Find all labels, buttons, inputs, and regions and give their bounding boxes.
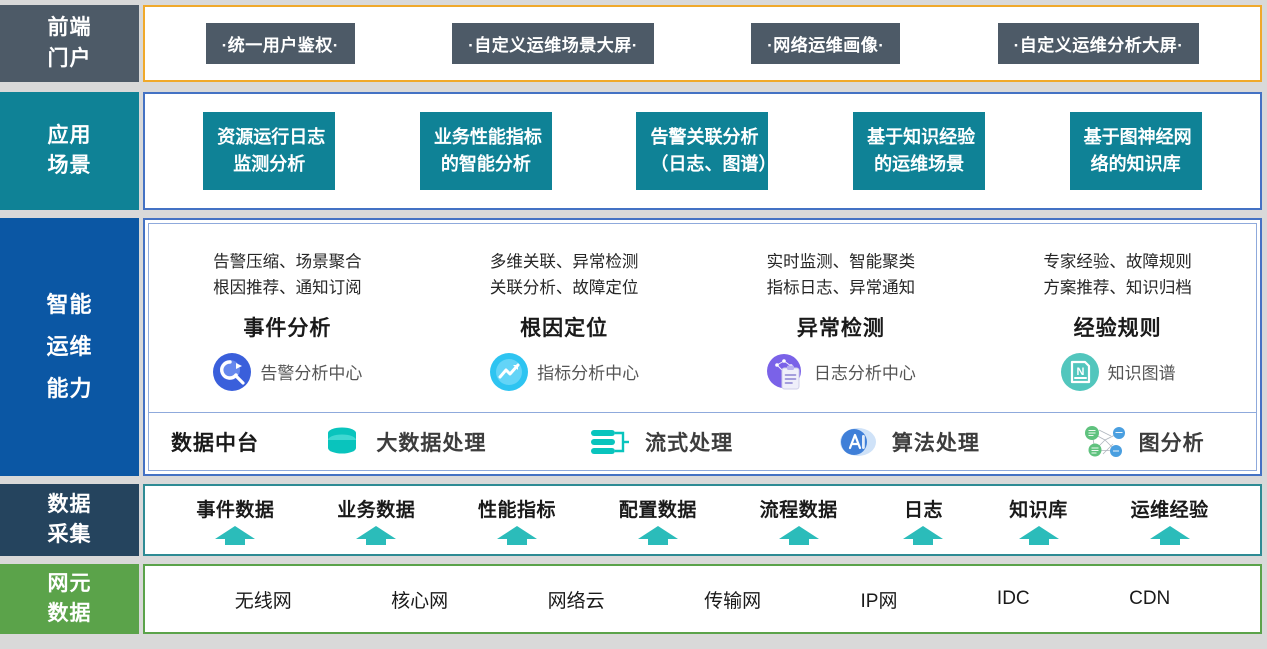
capability-desc-line: 根因推荐、通知订阅 <box>213 276 362 302</box>
up-arrow-icon <box>353 524 399 546</box>
data-collection-label: 配置数据 <box>619 495 697 522</box>
capability-desc-line: 关联分析、故障定位 <box>490 276 639 302</box>
capability-product[interactable]: 指标分析中心 <box>489 352 639 392</box>
capability-title: 根因定位 <box>520 312 608 342</box>
capability-column-root-cause[interactable]: 多维关联、异常检测 关联分析、故障定位 根因定位 指标分析中心 <box>426 224 703 412</box>
up-arrow-icon <box>1016 524 1062 546</box>
platform-item-graph[interactable]: 图分析 <box>1083 424 1205 460</box>
capability-column-anomaly-detection[interactable]: 实时监测、智能聚类 指标日志、异常通知 异常检测 <box>703 224 980 412</box>
capability-product-label: 告警分析中心 <box>260 359 362 384</box>
capability-panel: 告警压缩、场景聚合 根因推荐、通知订阅 事件分析 告警分析中心 <box>148 223 1257 413</box>
aiops-outer-panel: 告警压缩、场景聚合 根因推荐、通知订阅 事件分析 告警分析中心 <box>143 218 1262 476</box>
data-platform-items: 大数据处理 流式处理 <box>269 424 1256 460</box>
row-label-line: 门户 <box>48 44 92 74</box>
data-collection-item[interactable]: 性能指标 <box>478 495 556 546</box>
data-collection-item[interactable]: 运维经验 <box>1131 495 1209 546</box>
data-collection-item[interactable]: 配置数据 <box>619 495 697 546</box>
capability-title: 经验规则 <box>1074 312 1162 342</box>
application-scenario-chip[interactable]: 资源运行日志监测分析 <box>203 112 335 190</box>
data-collection-label: 性能指标 <box>478 495 556 522</box>
row-label-line: 能力 <box>46 368 92 410</box>
portal-chip[interactable]: ·自定义运维分析大屏· <box>998 23 1200 64</box>
application-scenario-chip[interactable]: 业务性能指标的智能分析 <box>420 112 552 190</box>
network-element-item[interactable]: CDN <box>1129 588 1170 610</box>
network-element-item[interactable]: IDC <box>997 588 1030 610</box>
capability-product[interactable]: 告警分析中心 <box>212 352 362 392</box>
data-collection-item[interactable]: 事件数据 <box>196 495 274 546</box>
up-arrow-icon <box>635 524 681 546</box>
row-aiops-capability: 智能 运维 能力 告警压缩、场景聚合 根因推荐、通知订阅 事件分析 <box>0 218 1262 476</box>
data-collection-item[interactable]: 知识库 <box>1009 495 1068 546</box>
stream-icon <box>589 424 633 460</box>
row-label-line: 前端 <box>48 13 92 43</box>
row-label-line: 数据 <box>48 490 92 520</box>
row-label-line: 网元 <box>48 569 92 599</box>
capability-desc-line: 实时监测、智能聚类 <box>767 250 916 276</box>
data-collection-item[interactable]: 业务数据 <box>337 495 415 546</box>
row-label-line: 采集 <box>48 520 92 550</box>
platform-item-bigdata[interactable]: 大数据处理 <box>320 424 486 460</box>
up-arrow-icon <box>494 524 540 546</box>
capability-column-event-analysis[interactable]: 告警压缩、场景聚合 根因推荐、通知订阅 事件分析 告警分析中心 <box>149 224 426 412</box>
row-front-portal: 前端 门户 ·统一用户鉴权· ·自定义运维场景大屏· ·网络运维画像· ·自定义… <box>0 5 1262 82</box>
network-element-item[interactable]: 核心网 <box>391 586 448 613</box>
platform-item-label: 算法处理 <box>892 427 980 457</box>
portal-chip[interactable]: ·统一用户鉴权· <box>206 23 355 64</box>
up-arrow-icon <box>900 524 946 546</box>
application-scenario-chip[interactable]: 基于知识经验的运维场景 <box>853 112 985 190</box>
application-scenario-chip[interactable]: 告警关联分析（日志、图谱） <box>636 112 768 190</box>
network-element-item[interactable]: 无线网 <box>235 586 292 613</box>
data-collection-label: 事件数据 <box>196 495 274 522</box>
network-element-item[interactable]: IP网 <box>861 586 898 613</box>
capability-title: 事件分析 <box>243 312 331 342</box>
capability-title: 异常检测 <box>797 312 885 342</box>
row-label-application-scenarios: 应用 场景 <box>0 92 139 210</box>
capability-desc-line: 多维关联、异常检测 <box>490 250 639 276</box>
row-label-line: 应用 <box>48 121 92 151</box>
capability-desc-line: 指标日志、异常通知 <box>767 276 916 302</box>
metric-analysis-icon <box>489 352 529 392</box>
data-collection-label: 知识库 <box>1009 495 1068 522</box>
log-analysis-icon <box>766 352 806 392</box>
graph-network-icon <box>1083 424 1127 460</box>
data-collection-label: 业务数据 <box>337 495 415 522</box>
row-label-aiops-capability: 智能 运维 能力 <box>0 218 139 476</box>
ai-icon <box>836 424 880 460</box>
svg-text:N: N <box>1076 366 1084 378</box>
capability-product-label: 知识图谱 <box>1108 359 1176 384</box>
data-collection-item[interactable]: 流程数据 <box>760 495 838 546</box>
data-collection-item[interactable]: 日志 <box>900 495 946 546</box>
row-label-network-element-data: 网元 数据 <box>0 564 139 634</box>
capability-product[interactable]: 日志分析中心 <box>766 352 916 392</box>
capability-product[interactable]: N 知识图谱 <box>1060 352 1176 392</box>
portal-chip[interactable]: ·自定义运维场景大屏· <box>452 23 654 64</box>
up-arrow-icon <box>776 524 822 546</box>
portal-chip[interactable]: ·网络运维画像· <box>751 23 900 64</box>
data-collection-label: 日志 <box>904 495 943 522</box>
row-body-application-scenarios: 资源运行日志监测分析 业务性能指标的智能分析 告警关联分析（日志、图谱） 基于知… <box>143 92 1262 210</box>
up-arrow-icon <box>212 524 258 546</box>
row-body-data-collection: 事件数据 业务数据 性能指标 配置数据 流程数据 日志 <box>143 484 1262 556</box>
data-collection-label: 流程数据 <box>760 495 838 522</box>
platform-item-algorithm[interactable]: 算法处理 <box>836 424 980 460</box>
network-element-item[interactable]: 网络云 <box>548 586 605 613</box>
row-body-network-element-data: 无线网 核心网 网络云 传输网 IP网 IDC CDN <box>143 564 1262 634</box>
data-collection-label: 运维经验 <box>1131 495 1209 522</box>
up-arrow-icon <box>1147 524 1193 546</box>
alarm-analysis-icon <box>212 352 252 392</box>
application-scenario-chip[interactable]: 基于图神经网络的知识库 <box>1070 112 1202 190</box>
capability-column-experience-rules[interactable]: 专家经验、故障规则 方案推荐、知识归档 经验规则 N 知识图谱 <box>979 224 1256 412</box>
capability-desc-line: 告警压缩、场景聚合 <box>213 250 362 276</box>
row-application-scenarios: 应用 场景 资源运行日志监测分析 业务性能指标的智能分析 告警关联分析（日志、图… <box>0 92 1262 210</box>
row-label-line: 运维 <box>46 326 92 368</box>
row-label-line: 智能 <box>46 284 92 326</box>
architecture-diagram: 前端 门户 ·统一用户鉴权· ·自定义运维场景大屏· ·网络运维画像· ·自定义… <box>0 0 1267 649</box>
database-icon <box>320 424 364 460</box>
platform-item-label: 流式处理 <box>645 427 733 457</box>
platform-item-label: 图分析 <box>1139 427 1205 457</box>
data-platform-title: 数据中台 <box>149 427 269 457</box>
row-data-collection: 数据 采集 事件数据 业务数据 性能指标 配置数据 流程数据 <box>0 484 1262 556</box>
capability-desc-line: 方案推荐、知识归档 <box>1043 276 1192 302</box>
row-body-front-portal: ·统一用户鉴权· ·自定义运维场景大屏· ·网络运维画像· ·自定义运维分析大屏… <box>143 5 1262 82</box>
platform-item-label: 大数据处理 <box>376 427 486 457</box>
capability-desc-line: 专家经验、故障规则 <box>1043 250 1192 276</box>
row-label-line: 数据 <box>48 599 92 629</box>
knowledge-graph-icon: N <box>1060 352 1100 392</box>
platform-item-stream[interactable]: 流式处理 <box>589 424 733 460</box>
capability-product-label: 指标分析中心 <box>537 359 639 384</box>
row-label-front-portal: 前端 门户 <box>0 5 139 82</box>
data-platform-panel: 数据中台 大数据处理 <box>148 413 1257 471</box>
network-element-item[interactable]: 传输网 <box>704 586 761 613</box>
row-label-data-collection: 数据 采集 <box>0 484 139 556</box>
row-label-line: 场景 <box>48 151 92 181</box>
capability-product-label: 日志分析中心 <box>814 359 916 384</box>
row-network-element-data: 网元 数据 无线网 核心网 网络云 传输网 IP网 IDC CDN <box>0 564 1262 634</box>
